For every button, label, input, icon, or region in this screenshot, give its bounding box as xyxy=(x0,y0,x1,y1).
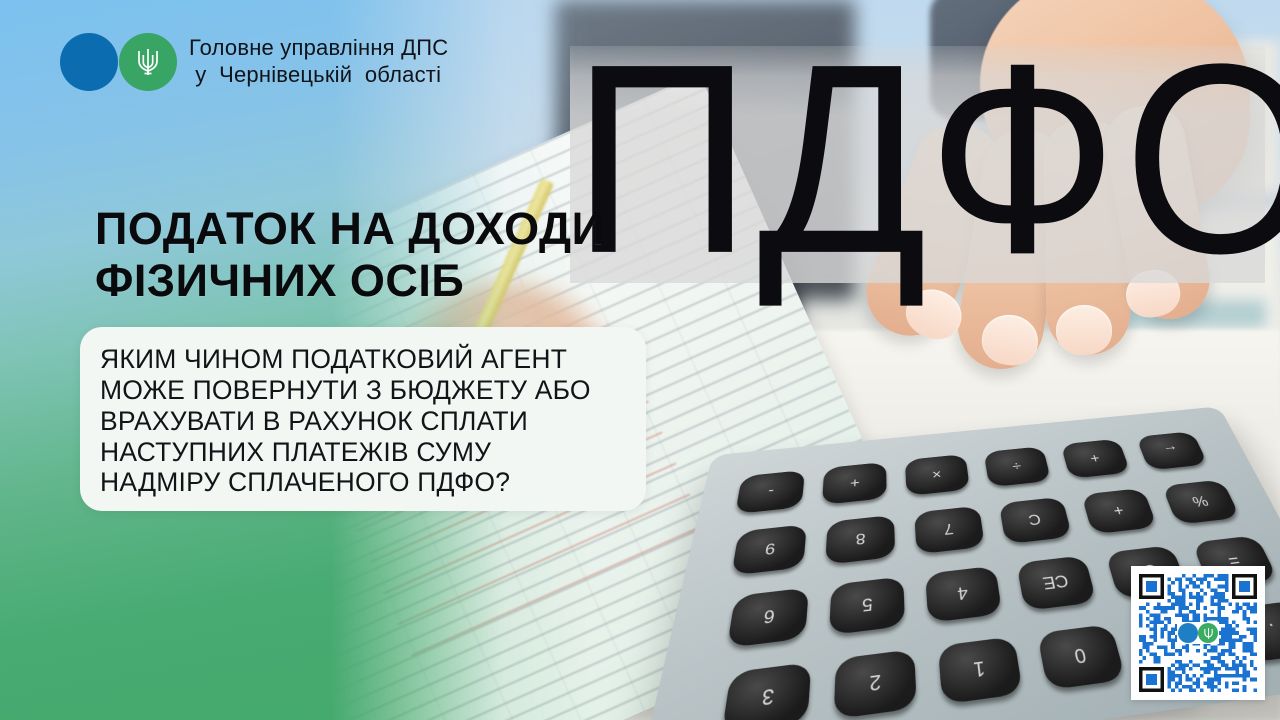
photo-calculator-key: 4 xyxy=(925,566,1002,623)
photo-calculator-key: 6 xyxy=(727,587,809,647)
qr-code-matrix[interactable] xyxy=(1139,574,1257,692)
pdfo-watermark-text: ПДФО xyxy=(572,24,1272,294)
photo-calculator-key: 1 xyxy=(938,636,1023,704)
photo-calculator-key: 0 xyxy=(1037,624,1126,690)
photo-calculator-key: × xyxy=(905,454,970,496)
photo-calculator-key: ÷ xyxy=(984,446,1052,487)
photo-calculator-key: ← xyxy=(1136,431,1208,470)
logo-green-circle xyxy=(119,33,177,91)
question-card: ЯКИМ ЧИНОМ ПОДАТКОВИЙ АГЕНТ МОЖЕ ПОВЕРНУ… xyxy=(80,327,646,511)
page-title: ПОДАТОК НА ДОХОДИ ФІЗИЧНИХ ОСІБ xyxy=(95,203,604,307)
photo-calculator-key: + xyxy=(1061,439,1131,479)
photo-calculator-key: 2 xyxy=(834,649,917,719)
photo-calculator-key: 3 xyxy=(721,662,811,720)
header-logo-block: Головне управління ДПС у Чернівецькій об… xyxy=(60,33,448,91)
photo-calculator-key: - xyxy=(735,470,805,514)
logo-blue-circle xyxy=(60,33,118,91)
photo-calculator-key: CE xyxy=(1016,555,1097,611)
photo-nail-ring xyxy=(1056,305,1113,356)
qr-logo-blue-circle xyxy=(1178,623,1198,643)
photo-calculator-key: 8 xyxy=(825,515,895,565)
photo-calculator-key: 9 xyxy=(731,524,807,575)
photo-calculator-key: 7 xyxy=(914,506,985,555)
ukrainian-trident-icon xyxy=(1203,627,1214,640)
ukrainian-trident-icon xyxy=(135,46,161,78)
qr-logo-green-circle xyxy=(1198,623,1218,643)
organization-name: Головне управління ДПС у Чернівецькій об… xyxy=(189,35,448,89)
photo-calculator-key: + xyxy=(1081,488,1157,534)
qr-code-center-logo xyxy=(1177,622,1219,644)
poster-canvas: -+×÷+←987C+%654CEOff=321000. ПДФО xyxy=(0,0,1280,720)
photo-calculator-key: 5 xyxy=(829,576,905,635)
photo-calculator-key: C xyxy=(999,497,1073,545)
dps-logo xyxy=(60,33,177,91)
photo-calculator-key: % xyxy=(1162,479,1241,524)
question-text: ЯКИМ ЧИНОМ ПОДАТКОВИЙ АГЕНТ МОЖЕ ПОВЕРНУ… xyxy=(100,344,626,498)
qr-code[interactable] xyxy=(1131,566,1265,700)
photo-calculator-key: + xyxy=(822,462,887,505)
